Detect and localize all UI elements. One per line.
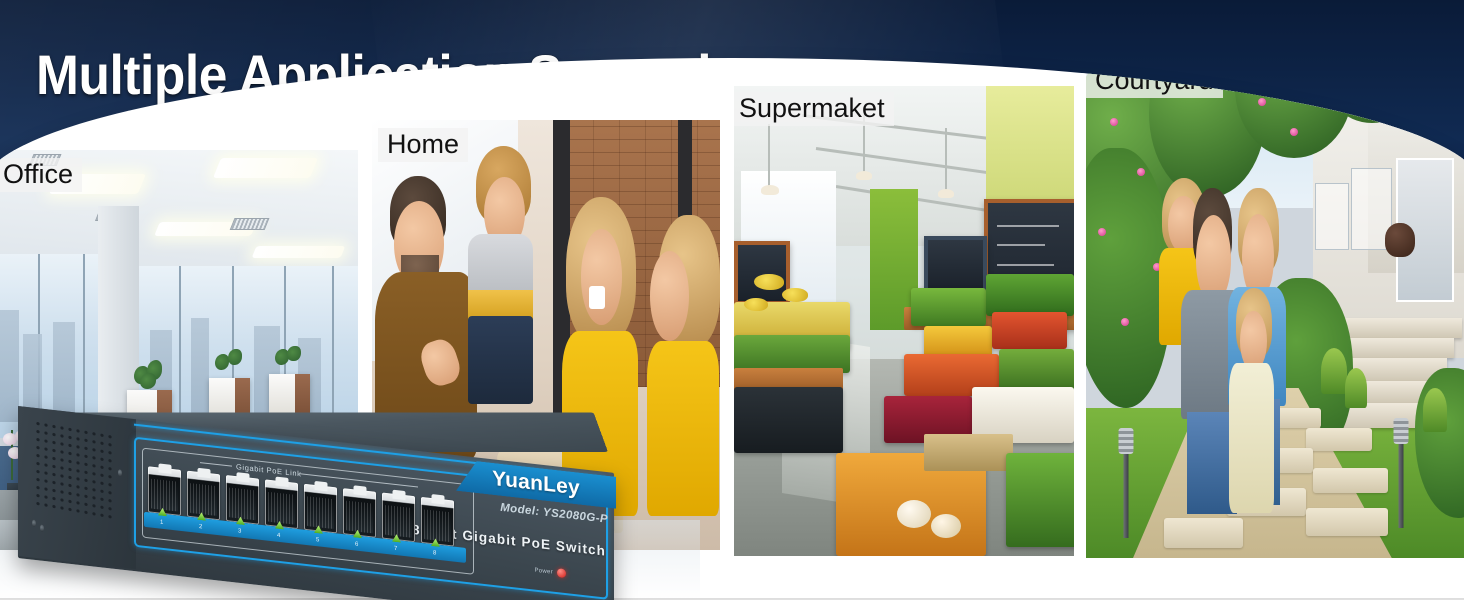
rj45-port bbox=[382, 492, 415, 542]
scene-label-office: Office bbox=[0, 158, 82, 192]
port-number: 5 bbox=[316, 537, 319, 543]
scene-label-home: Home bbox=[378, 128, 468, 162]
scene-photo-courtyard: Courtyard bbox=[1086, 58, 1464, 558]
port-number: 6 bbox=[355, 541, 358, 547]
product-image-poe-switch: YuanLey Model: YS2080G-P 8-Port Gigabit … bbox=[18, 368, 638, 600]
scene-label-courtyard: Courtyard bbox=[1086, 64, 1223, 98]
power-led-icon bbox=[557, 568, 566, 578]
rj45-port bbox=[421, 497, 454, 547]
ventilation-holes bbox=[34, 419, 116, 522]
courtyard-scene bbox=[1086, 58, 1464, 558]
scene-label-supermarket: Supermaket bbox=[734, 92, 894, 126]
rj45-port bbox=[148, 466, 181, 516]
port-number: 4 bbox=[277, 533, 280, 539]
rj45-port bbox=[187, 471, 220, 521]
port-number: 7 bbox=[394, 546, 397, 552]
brand-name: YuanLey bbox=[492, 467, 580, 501]
power-label: Power bbox=[534, 567, 553, 575]
rj45-port bbox=[226, 475, 259, 525]
port-number: 2 bbox=[199, 524, 202, 530]
port-number: 3 bbox=[238, 528, 241, 534]
switch-side-panel bbox=[18, 406, 136, 569]
rj45-port bbox=[343, 488, 376, 538]
rj45-port bbox=[265, 479, 298, 529]
port-number: 8 bbox=[433, 550, 436, 556]
application-scenarios-banner: Multiple Application Scenarios bbox=[0, 0, 1464, 600]
rj45-port bbox=[304, 484, 337, 534]
port-number: 1 bbox=[160, 520, 163, 526]
scene-photo-supermarket: Supermaket bbox=[734, 86, 1074, 556]
supermarket-scene bbox=[734, 86, 1074, 556]
